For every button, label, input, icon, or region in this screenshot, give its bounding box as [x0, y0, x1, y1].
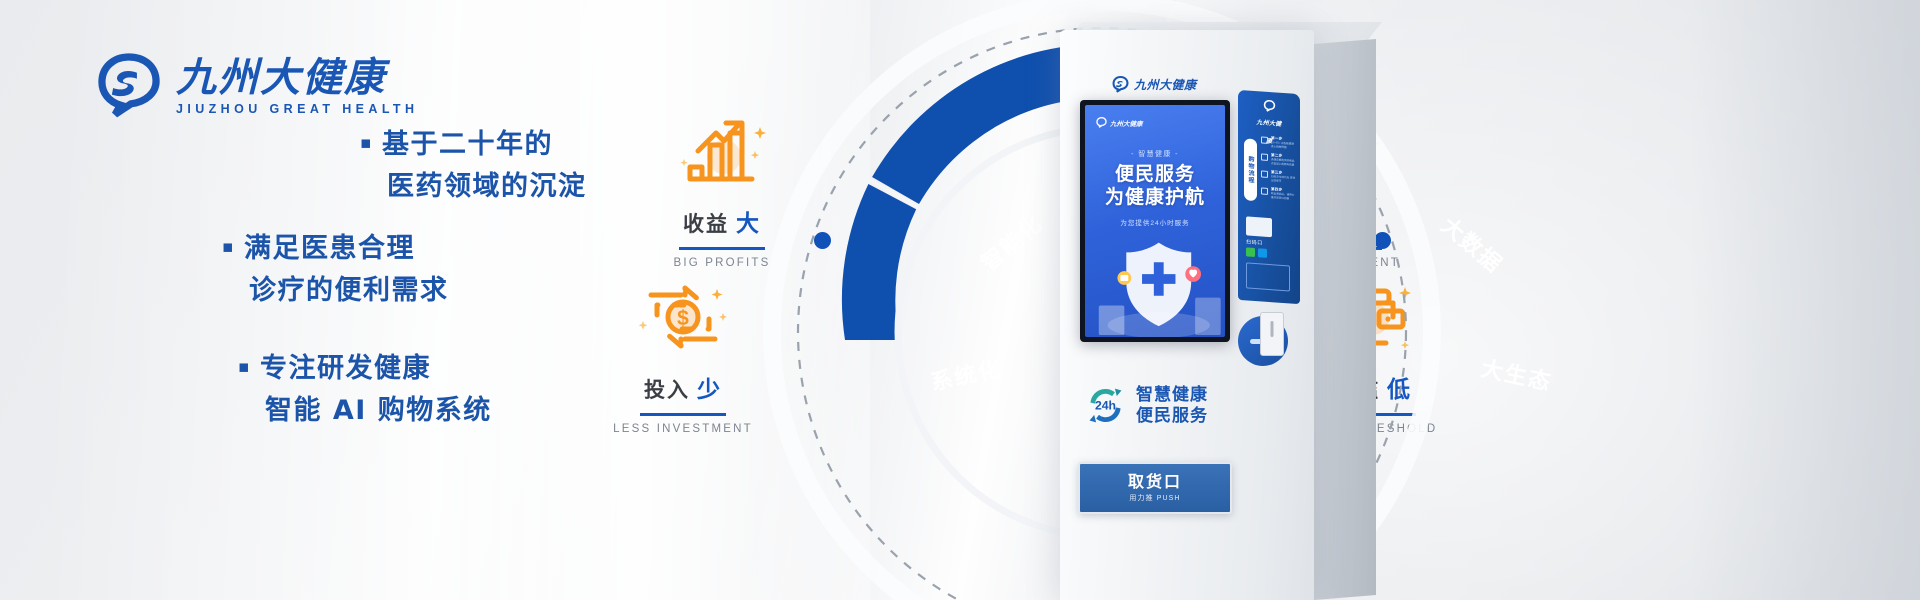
- panel-step: 第一步扫一扫 / 点击触摸屏 进入购物界面: [1261, 135, 1297, 150]
- screen-tagline: - 智慧健康 -: [1131, 149, 1179, 159]
- cycle-24h-icon: 24h: [1082, 382, 1129, 429]
- background-shadow-right: [1690, 0, 1920, 600]
- panel-steps-list: 第一步扫一扫 / 点击触摸屏 进入购物界面 第二步选择您要购买的商品 点击加入购…: [1261, 135, 1297, 206]
- copy-block-1: ▪基于二十年的 医药领域的沉淀: [360, 124, 587, 208]
- panel-step: 第三步扫码支付成功后 等待出货即可: [1261, 169, 1297, 184]
- bullet-icon: ▪: [222, 237, 235, 257]
- brand-mark-icon: [1263, 100, 1275, 113]
- brand-mark-icon: [96, 53, 162, 119]
- brand-logo-en: JIUZHOU GREAT HEALTH: [176, 102, 418, 116]
- panel-step-desc: 取出商品后，请用力 推开取货口挡板: [1271, 192, 1297, 201]
- hand-tap-icon: [1261, 136, 1268, 143]
- copy-1-line-2: 医药领域的沉淀: [387, 171, 587, 202]
- panel-vertical-title: 购物流程: [1244, 138, 1257, 201]
- wechat-pay-icon: [1246, 247, 1255, 257]
- screen-logo-cn: 九州大健康: [1110, 118, 1143, 128]
- alipay-icon: [1258, 248, 1267, 258]
- copy-1-line-1: 基于二十年的: [382, 129, 553, 160]
- svg-text:$: $: [677, 307, 689, 330]
- copy-3-line-1: 专注研发健康: [260, 353, 431, 384]
- badge-line-2: 便民服务: [1136, 406, 1208, 426]
- brand-logo: 九州大健康 JIUZHOU GREAT HEALTH: [96, 53, 418, 119]
- payment-icons: [1246, 247, 1267, 257]
- pickup-door[interactable]: 取货口 用力推 PUSH: [1078, 462, 1232, 514]
- screen-artwork-shield: [1085, 219, 1225, 337]
- machine-touchscreen[interactable]: 九州大健康 - 智慧健康 - 便民服务 为健康护航 为您提供24小时服务: [1080, 100, 1230, 342]
- copy-block-2: ▪满足医患合理 诊疗的便利需求: [222, 228, 449, 312]
- screen-subline: 为您提供24小时服务: [1085, 217, 1225, 227]
- panel-step-desc: 扫码支付成功后 等待出货即可: [1271, 175, 1297, 184]
- badge-line-1: 智慧健康: [1136, 385, 1208, 405]
- machine-side-face: [1314, 39, 1376, 600]
- panel-step: 第四步取出商品后，请用力 推开取货口挡板: [1261, 186, 1297, 201]
- pickup-door-title: 取货口: [1128, 473, 1182, 491]
- svg-text:24h: 24h: [1095, 398, 1116, 412]
- screen-headline-line-2: 为健康护航: [1085, 186, 1225, 209]
- machine-header-logo-cn: 九州大健康: [1134, 76, 1197, 93]
- bullet-icon: ▪: [360, 133, 373, 153]
- copy-2-line-1: 满足医患合理: [244, 233, 415, 264]
- machine-control-panel: 九州大健康 购物流程 第一步扫一扫 / 点击触摸屏 进入购物界面 第二步选择您要…: [1238, 90, 1300, 304]
- screen-headline: 便民服务 为健康护航: [1085, 163, 1225, 209]
- vending-machine: 九州大健康: [1060, 22, 1390, 600]
- panel-step-desc: 选择您要购买的商品 点击加入购物车结算: [1271, 158, 1297, 167]
- select-icon: [1261, 153, 1268, 160]
- machine-24h-badge: 24h 智慧健康 便民服务: [1082, 382, 1208, 429]
- badge-text: 智慧健康 便民服务: [1136, 385, 1208, 425]
- qr-scanner-window[interactable]: [1246, 216, 1272, 237]
- coin-slot[interactable]: [1260, 312, 1284, 356]
- feature-label-cn: 投入: [644, 378, 690, 402]
- copy-block-3: ▪专注研发健康 智能 AI 购物系统: [238, 348, 492, 432]
- machine-front-face: 九州大健康: [1060, 30, 1314, 600]
- banner-stage: 九州大健康 JIUZHOU GREAT HEALTH ▪基于二十年的 医药领域的…: [0, 0, 1920, 600]
- copy-3-line-2: 智能 AI 购物系统: [265, 395, 492, 426]
- brand-mark-icon: [1112, 76, 1129, 93]
- bag-icon: [1261, 170, 1268, 177]
- screen-logo: 九州大健康: [1096, 117, 1143, 128]
- copy-2-line-2: 诊疗的便利需求: [249, 275, 449, 306]
- screen-content: 九州大健康 - 智慧健康 - 便民服务 为健康护航 为您提供24小时服务: [1085, 105, 1225, 337]
- coin-slot-bar: [1271, 321, 1274, 337]
- screen-headline-line-1: 便民服务: [1085, 163, 1225, 186]
- machine-header-logo: 九州大健康: [1112, 76, 1197, 93]
- pickup-icon: [1261, 187, 1268, 194]
- panel-step: 第二步选择您要购买的商品 点击加入购物车结算: [1261, 152, 1297, 167]
- panel-step-desc: 扫一扫 / 点击触摸屏 进入购物界面: [1271, 141, 1297, 150]
- bullet-icon: ▪: [238, 357, 251, 377]
- pickup-door-sub: 用力推 PUSH: [1129, 493, 1180, 503]
- brand-mark-icon: [1096, 117, 1107, 128]
- ring-node-left: [814, 232, 831, 249]
- card-reader-slot[interactable]: [1246, 262, 1290, 291]
- brand-logo-cn: 九州大健康: [176, 57, 418, 99]
- qr-scanner-label: 扫码口: [1246, 238, 1263, 246]
